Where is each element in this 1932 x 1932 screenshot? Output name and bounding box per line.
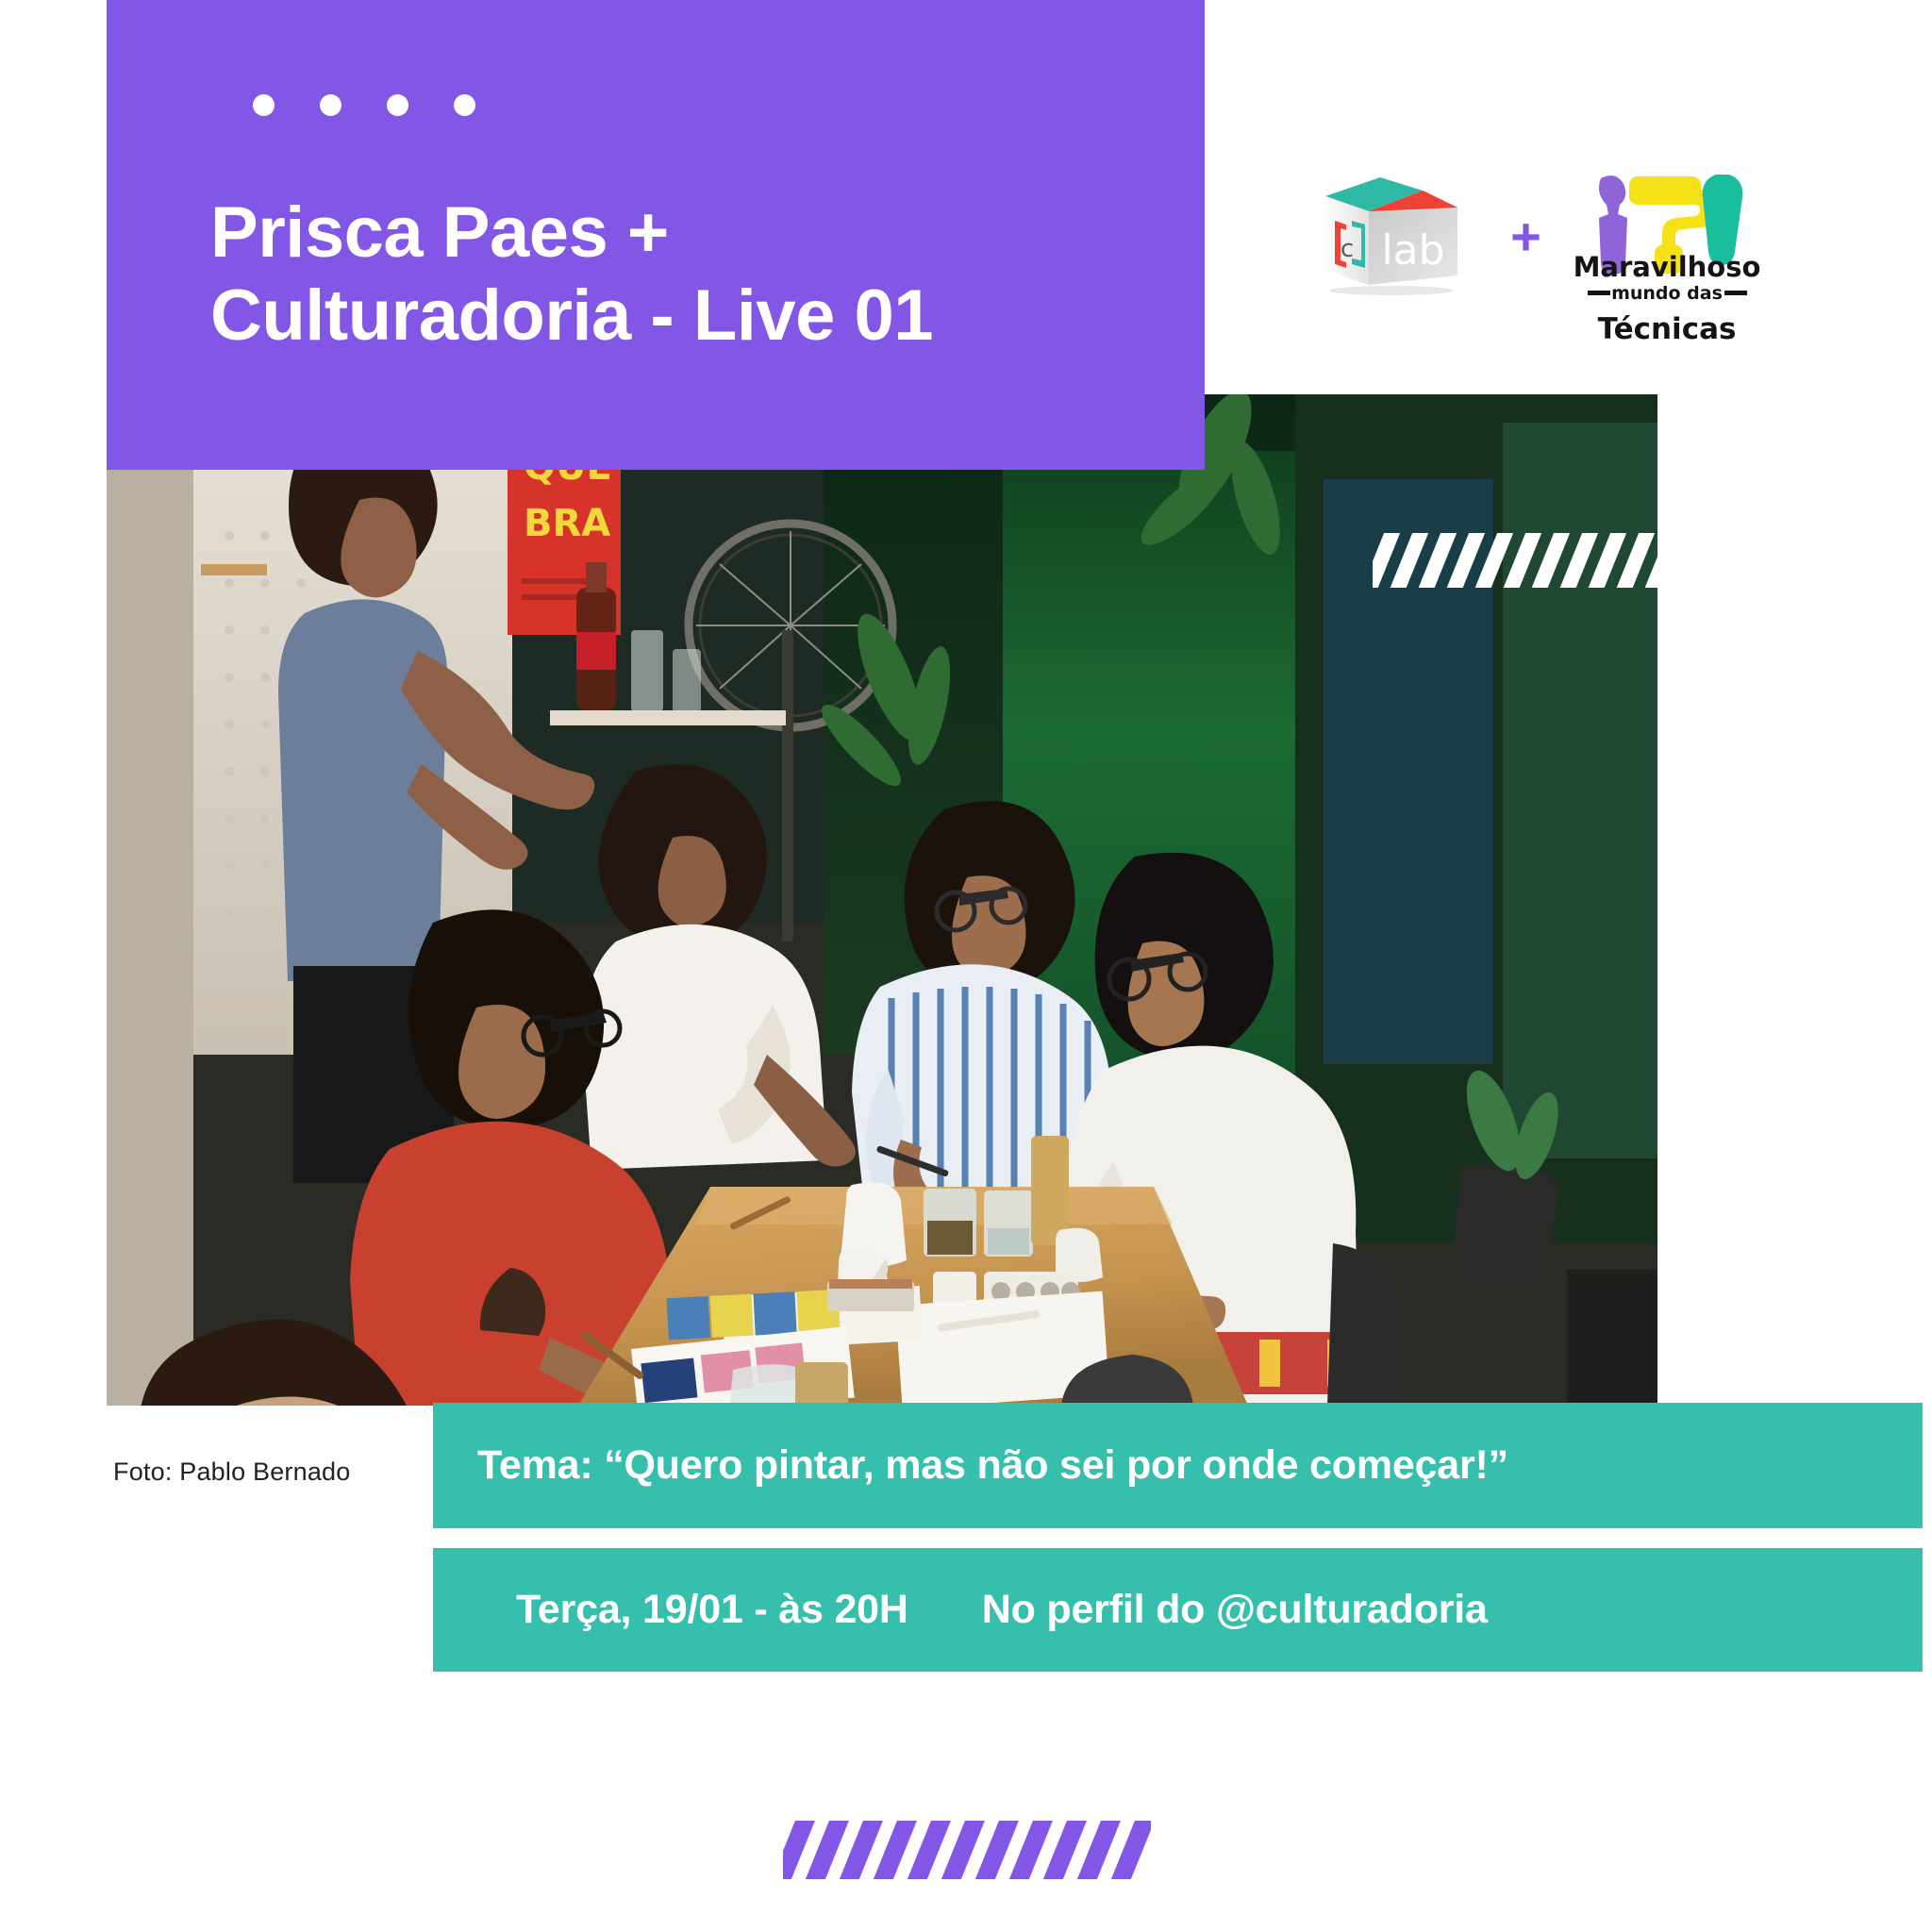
photo-diagonal-stripes: [1373, 533, 1684, 588]
dot-2: [320, 94, 341, 116]
schedule-location: No perfil do @culturadoria: [982, 1587, 1488, 1633]
logo-text-maravilhoso: Maravilhoso: [1574, 251, 1761, 283]
logo-text-mundo-das: mundo das: [1611, 283, 1723, 302]
page-title: Prisca Paes + Culturadoria - Live 01: [210, 192, 933, 358]
maravilhoso-logo-icon: Maravilhoso mundo das: [1571, 165, 1764, 302]
dot-4: [454, 94, 475, 116]
theme-banner: Tema: “Quero pintar, mas não sei por ond…: [433, 1403, 1923, 1528]
svg-text:c: c: [1341, 235, 1354, 263]
decorative-dots: [253, 94, 475, 116]
photo-credit: Foto: Pablo Bernado: [113, 1457, 350, 1487]
c-lab-logo: c lab: [1316, 170, 1481, 297]
title-line-2: Culturadoria - Live 01: [210, 275, 933, 358]
schedule-banner: Terça, 19/01 - às 20H No perfil do @cult…: [433, 1548, 1923, 1672]
poster-canvas: QUE BRA: [0, 0, 1932, 1932]
schedule-date-time: Terça, 19/01 - às 20H: [516, 1587, 908, 1633]
svg-text:BRA: BRA: [524, 502, 610, 545]
title-line-1: Prisca Paes +: [210, 192, 933, 275]
dot-1: [253, 94, 275, 116]
svg-text:Técnicas: Técnicas: [1598, 312, 1737, 346]
dot-3: [387, 94, 408, 116]
maravilhoso-mundo-das-tecnicas-logo: Maravilhoso mundo das Técnicas: [1571, 165, 1764, 302]
header-banner: Prisca Paes + Culturadoria - Live 01: [107, 0, 1205, 470]
svg-text:lab: lab: [1381, 226, 1444, 275]
c-lab-logo-icon: c lab: [1316, 170, 1481, 297]
partner-logos: c lab + Maravilhoso: [1316, 165, 1764, 302]
logo-plus-separator: +: [1481, 210, 1571, 263]
theme-text: Tema: “Quero pintar, mas não sei por ond…: [477, 1442, 1508, 1489]
footer-diagonal-stripes: [783, 1821, 1151, 1879]
maravilhoso-logo-tecnicas: Técnicas: [1571, 305, 1764, 348]
